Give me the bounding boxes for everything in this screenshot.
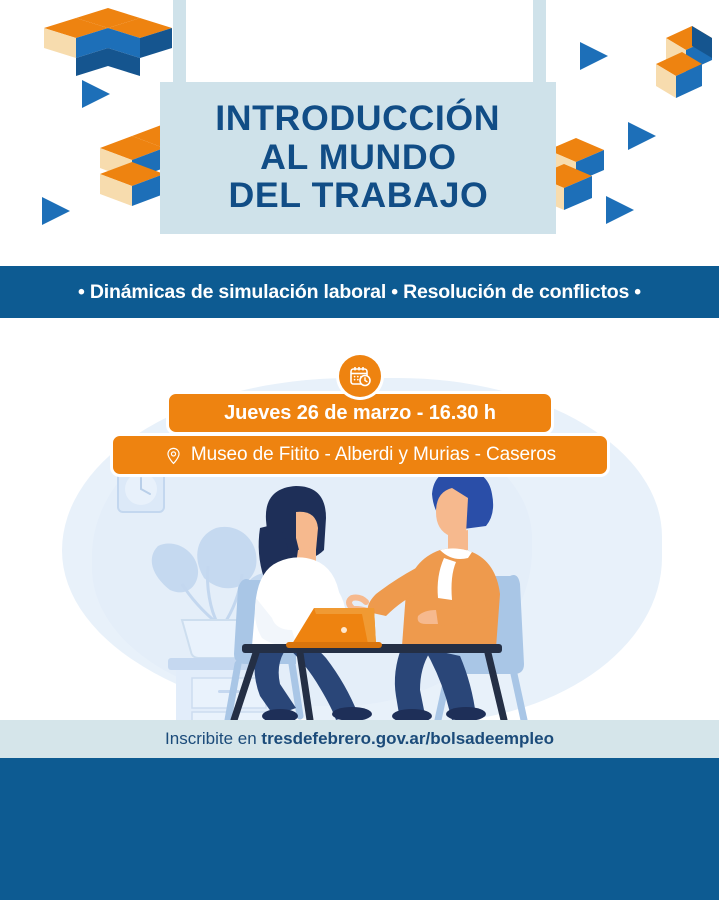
signup-band: Inscribite en tresdefebrero.gov.ar/bolsa… xyxy=(0,720,719,758)
event-location-label: Museo de Fitito - Alberdi y Murias - Cas… xyxy=(191,444,556,466)
title-line-2: AL MUNDO xyxy=(260,140,457,176)
footer-bar: tresdefebrero .gov.ar xyxy=(0,758,719,900)
triangle-1 xyxy=(82,80,110,108)
iso-block-1 xyxy=(44,8,172,76)
triangle-2 xyxy=(42,197,70,225)
triangle-4 xyxy=(628,122,656,150)
title-line-1: INTRODUCCIÓN xyxy=(215,101,500,137)
triangle-5 xyxy=(606,196,634,224)
signup-url[interactable]: tresdefebrero.gov.ar/bolsadeempleo xyxy=(261,729,554,748)
signup-text: Inscribite en tresdefebrero.gov.ar/bolsa… xyxy=(165,729,554,749)
person-interviewee xyxy=(252,486,372,720)
iso-block-3 xyxy=(656,26,712,98)
map-pin-icon xyxy=(164,446,183,465)
signup-prefix: Inscribite en xyxy=(165,729,261,748)
subtitle-band: • Dinámicas de simulación laboral • Reso… xyxy=(0,266,719,318)
triangle-3 xyxy=(580,42,608,70)
calendar-clock-icon xyxy=(339,355,381,397)
poster-root: INTRODUCCIÓN AL MUNDO DEL TRABAJO • Diná… xyxy=(0,0,719,900)
event-location-badge: Museo de Fitito - Alberdi y Murias - Cas… xyxy=(110,433,610,477)
title-line-3: DEL TRABAJO xyxy=(228,178,488,214)
hanger-bar-left xyxy=(173,0,186,86)
decoration-top-right xyxy=(560,0,719,240)
subtitle-text: • Dinámicas de simulación laboral • Reso… xyxy=(78,281,641,304)
person-interviewer xyxy=(347,468,500,720)
page-title: INTRODUCCIÓN AL MUNDO DEL TRABAJO xyxy=(160,82,556,234)
event-date-label: Jueves 26 de marzo - 16.30 h xyxy=(224,402,496,425)
event-date-badge: Jueves 26 de marzo - 16.30 h xyxy=(166,391,554,435)
hanger-bar-right xyxy=(533,0,546,86)
title-panel: INTRODUCCIÓN AL MUNDO DEL TRABAJO xyxy=(160,82,556,234)
interview-illustration xyxy=(100,458,600,720)
